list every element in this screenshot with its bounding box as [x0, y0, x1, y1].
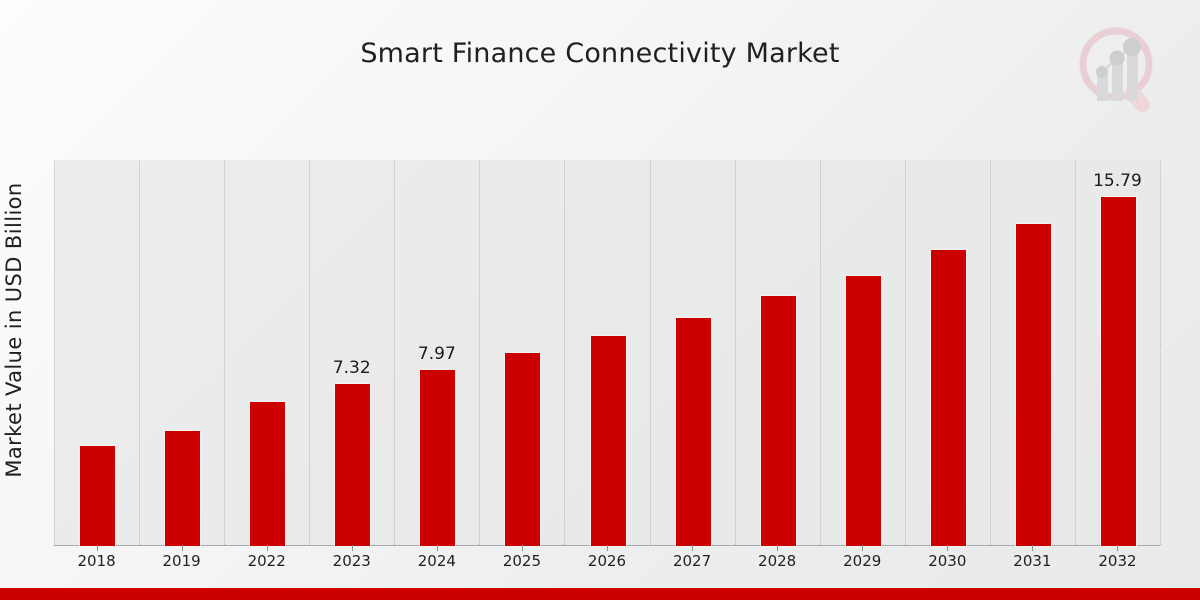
y-axis-title: Market Value in USD Billion	[2, 130, 26, 530]
x-tick-label-2023: 2023	[307, 552, 397, 570]
chart-screenshot: Smart Finance Connectivity Market Market…	[0, 0, 1200, 600]
gridline	[820, 160, 822, 545]
x-tick-label-2022: 2022	[222, 552, 312, 570]
gridline	[905, 160, 907, 545]
x-tick-label-2030: 2030	[902, 552, 992, 570]
gridline	[650, 160, 652, 545]
plot-area	[54, 160, 1160, 545]
gridline	[1075, 160, 1077, 545]
x-tick-label-2026: 2026	[562, 552, 652, 570]
x-tick-label-2024: 2024	[392, 552, 482, 570]
gridlines	[54, 160, 1160, 545]
gridline	[224, 160, 226, 545]
x-tick-label-2029: 2029	[817, 552, 907, 570]
market-research-magnifier-logo	[1068, 22, 1174, 118]
gridline	[564, 160, 566, 545]
gridline	[990, 160, 992, 545]
x-tick-label-2019: 2019	[137, 552, 227, 570]
x-tick-label-2025: 2025	[477, 552, 567, 570]
x-tick-label-2032: 2032	[1072, 552, 1162, 570]
x-tick-label-2028: 2028	[732, 552, 822, 570]
x-axis-line	[54, 545, 1160, 546]
gridline	[1160, 160, 1162, 545]
x-tick-label-2027: 2027	[647, 552, 737, 570]
gridline	[394, 160, 396, 545]
gridline	[309, 160, 311, 545]
gridline	[139, 160, 141, 545]
x-tick-label-2031: 2031	[987, 552, 1077, 570]
gridline	[54, 160, 56, 545]
footer-strip	[0, 588, 1200, 600]
page-title: Smart Finance Connectivity Market	[0, 38, 1200, 69]
x-tick-label-2018: 2018	[52, 552, 142, 570]
gridline	[735, 160, 737, 545]
gridline	[479, 160, 481, 545]
